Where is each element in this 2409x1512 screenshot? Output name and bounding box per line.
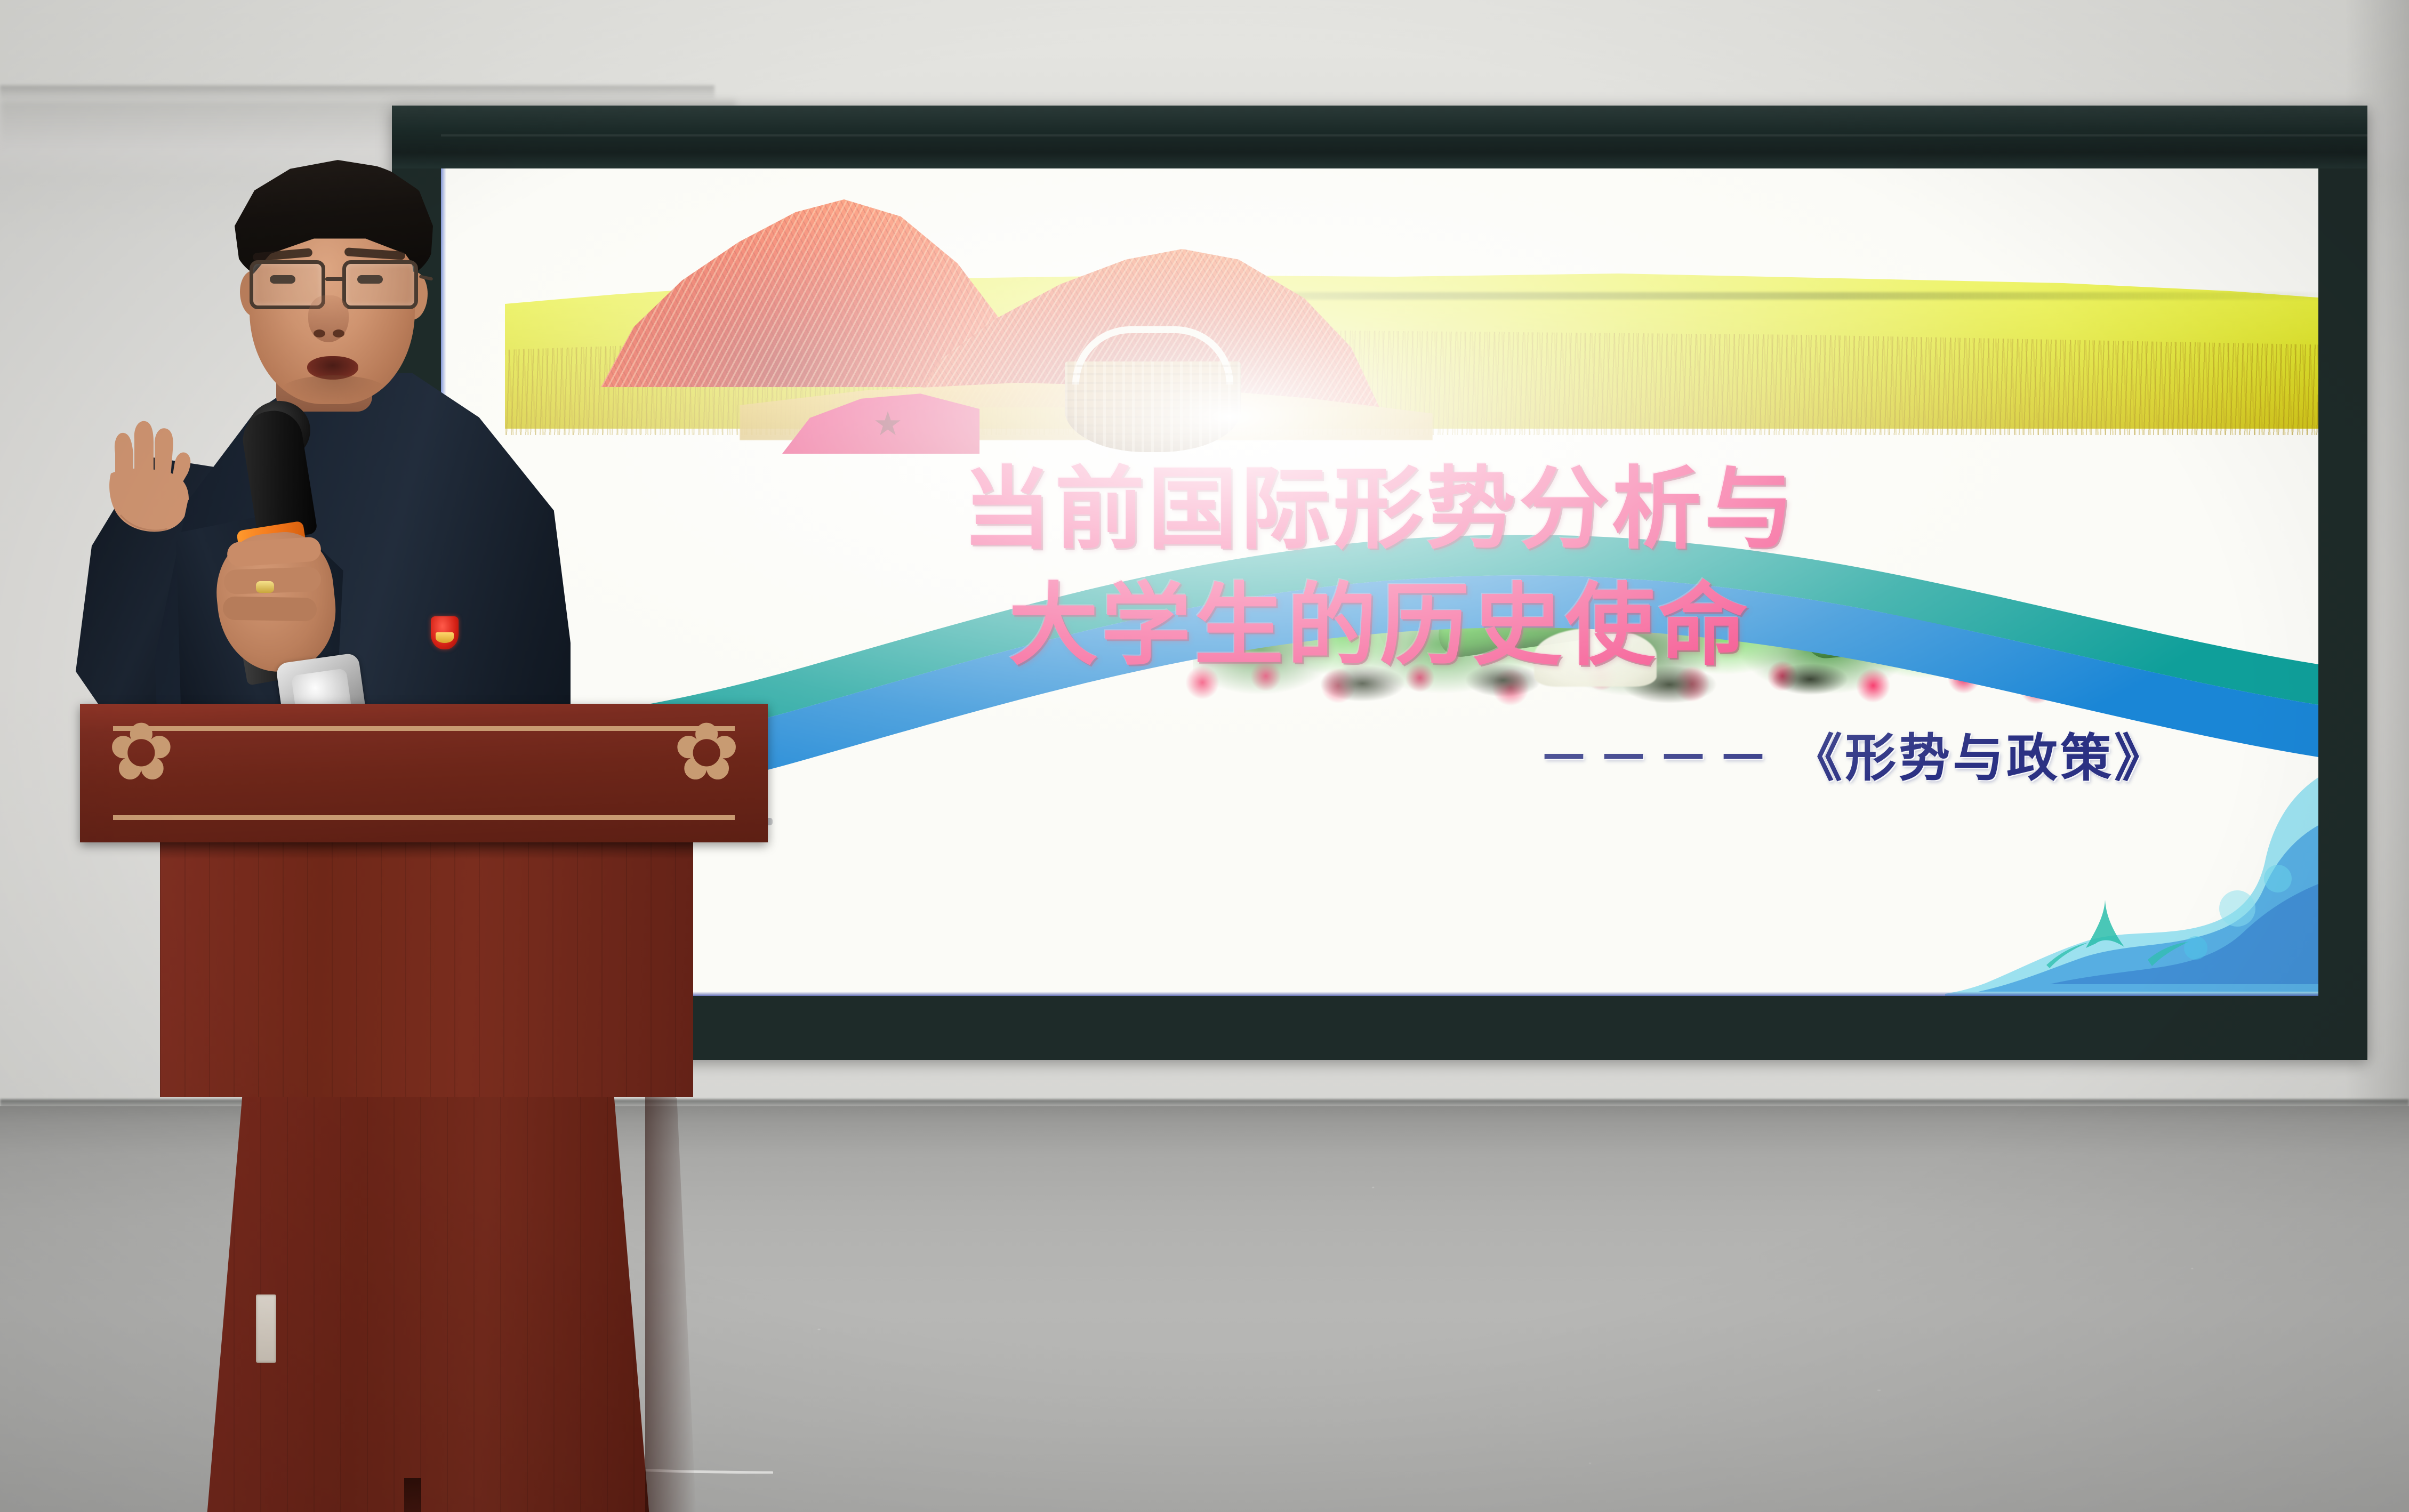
lectern-front-panel (160, 841, 693, 1097)
screen-valance (392, 106, 2367, 168)
slide-title-line-2: 大学生的历史使命 (441, 567, 2318, 683)
finger-ring (223, 596, 317, 621)
nostril-right (333, 329, 344, 337)
scrollwork-ornament-right: ✿ (677, 715, 740, 822)
chin-shadow (280, 375, 387, 406)
ceiling-soffit-shadow (0, 85, 714, 100)
nostril-left (314, 329, 325, 337)
glasses-bridge (325, 277, 344, 281)
lectern-top-panel: ✿ ✿ (80, 704, 768, 842)
finger-ring-jewelry-icon (256, 581, 274, 593)
presenter-head (229, 160, 437, 416)
slide-title-line-1: 当前国际形势分析与 (441, 451, 2318, 567)
slide-subtitle: －－－－《形势与政策》 (1538, 717, 2168, 791)
lectern-base-gap (404, 1478, 421, 1512)
lectern-gold-trim (113, 726, 735, 820)
slide-subtitle-dashes: －－－－ (1538, 728, 1777, 788)
scrollwork-ornament-left: ✿ (108, 715, 171, 822)
lectern-label-slot (256, 1294, 276, 1363)
lens-right (342, 260, 418, 309)
glasses-temple (419, 275, 433, 280)
lectern-side-shadow (645, 1072, 696, 1512)
slide-subtitle-text: 《形势与政策》 (1791, 728, 2168, 788)
slide-title: 当前国际形势分析与 大学生的历史使命 (441, 451, 2318, 684)
lecture-hall-scene: 当前国际形势分析与 大学生的历史使命 －－－－《形势与政策》 (0, 0, 2409, 1512)
wooden-lectern: ✿ ✿ (80, 704, 768, 1512)
party-emblem-pin-icon (431, 616, 459, 649)
